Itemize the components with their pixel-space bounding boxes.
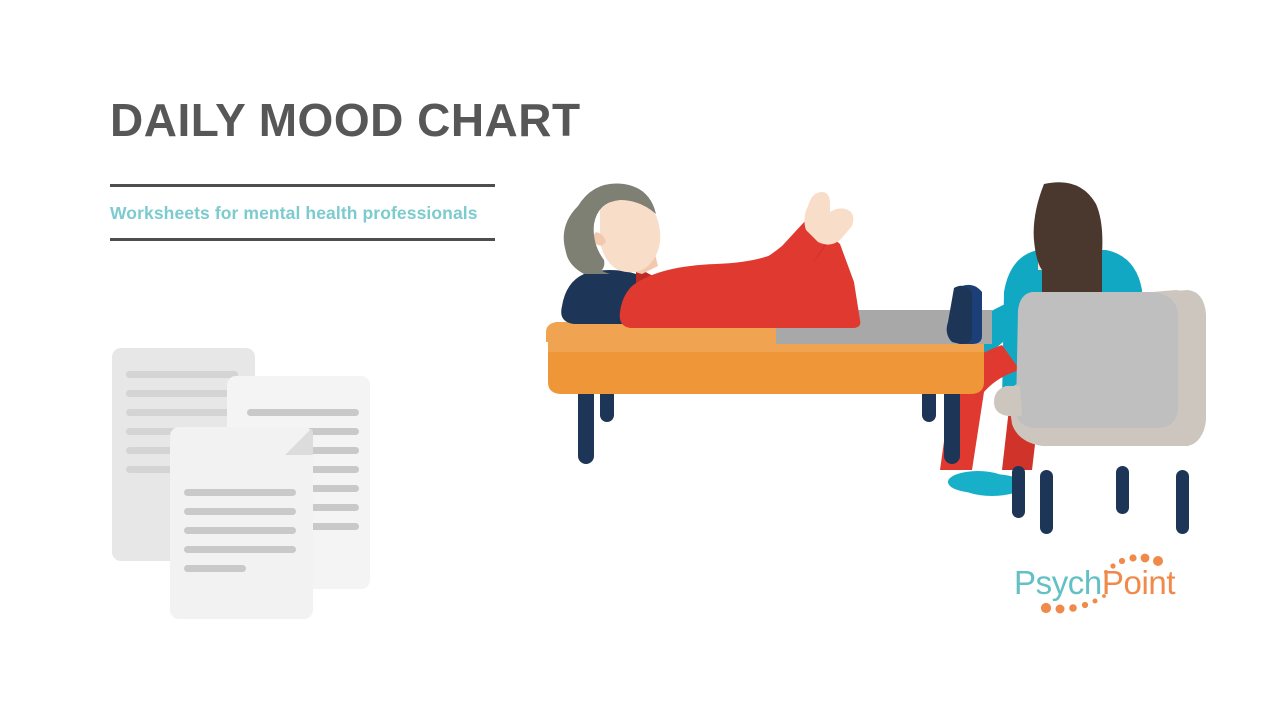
chair-leg-front-right bbox=[1116, 466, 1129, 514]
therapist-shoe-near bbox=[948, 471, 1008, 493]
document-text-line bbox=[184, 508, 296, 515]
armchair bbox=[994, 290, 1206, 534]
chair-back-panel bbox=[1016, 292, 1178, 428]
couch-leg-front-right bbox=[944, 386, 960, 464]
document-text-line bbox=[126, 409, 238, 416]
chair-leg-rear-left bbox=[1040, 470, 1053, 534]
patient-shoe-near bbox=[947, 286, 972, 344]
logo-text-point: Point bbox=[1102, 564, 1175, 601]
chair-armrest bbox=[994, 386, 1022, 416]
document-text-line bbox=[184, 527, 296, 534]
document-text-line bbox=[184, 546, 296, 553]
document-text-line bbox=[126, 371, 238, 378]
patient-figure bbox=[561, 183, 992, 344]
psychpoint-logo[interactable]: PsychPoint bbox=[1014, 552, 1184, 614]
folded-corner-icon bbox=[285, 427, 313, 455]
therapy-session-illustration bbox=[540, 170, 1220, 570]
divider-above-subtitle bbox=[110, 184, 495, 187]
document-text-line bbox=[184, 565, 246, 572]
document-text-line bbox=[184, 489, 296, 496]
document-stack-illustration bbox=[110, 346, 380, 621]
chair-leg-front-left bbox=[1012, 466, 1025, 518]
logo-wordmark: PsychPoint bbox=[1014, 564, 1175, 602]
document-text-line bbox=[126, 390, 238, 397]
chair-leg-rear-right bbox=[1176, 470, 1189, 534]
document-page-front bbox=[170, 427, 313, 619]
couch-leg-front-left bbox=[578, 386, 594, 464]
page-corner-cover bbox=[257, 427, 285, 455]
divider-below-subtitle bbox=[110, 238, 495, 241]
page-title: DAILY MOOD CHART bbox=[110, 96, 730, 146]
slide-canvas: DAILY MOOD CHART Worksheets for mental h… bbox=[0, 0, 1280, 720]
logo-text-psych: Psych bbox=[1014, 564, 1102, 601]
document-text-line bbox=[247, 409, 359, 416]
